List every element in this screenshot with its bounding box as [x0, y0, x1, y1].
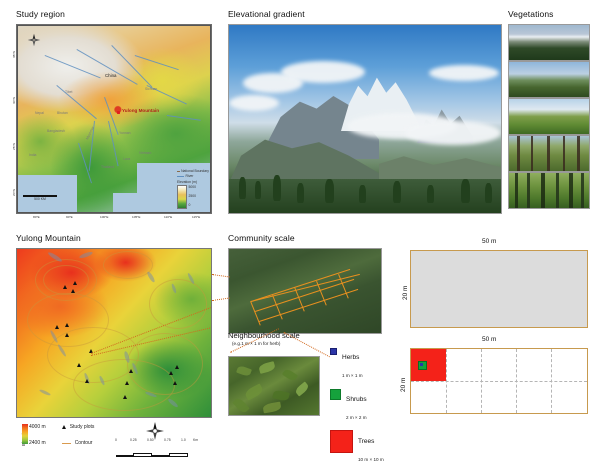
- scale-bar-label: 500 KM: [23, 197, 57, 201]
- legend-label-shrubs: Shrubs: [346, 396, 367, 403]
- stream-streak: [167, 398, 179, 409]
- herbs-swatch-icon: [330, 348, 337, 355]
- scale-tick: 0.25: [130, 438, 137, 442]
- study-plot-marker[interactable]: [85, 379, 89, 383]
- scale-tick: 1.0: [181, 438, 186, 442]
- foliage: [294, 381, 310, 396]
- lat-tick: 20°N: [12, 189, 16, 196]
- scale-unit: Km: [193, 438, 198, 442]
- neighbourhood-scale-subtitle: (e.g.1 m × 1 m for herb): [232, 341, 280, 346]
- legend-label-herbs: Herbs: [342, 354, 359, 361]
- panel-title-vegetations: Vegetations: [508, 9, 554, 19]
- legend-elev-low: 2400 m: [29, 440, 46, 446]
- place-label: Yunnan: [119, 131, 131, 135]
- map-scale-bar: 500 KM: [23, 195, 57, 201]
- legend-title-elevation: Elevation (m): [177, 180, 209, 184]
- study-plot-marker[interactable]: [71, 289, 75, 293]
- study-plot-marker[interactable]: [125, 381, 129, 385]
- map-legend: National Boundary River Elevation (m) 50…: [177, 169, 209, 209]
- study-plot-marker[interactable]: [73, 281, 77, 285]
- tree-trunk: [577, 136, 580, 171]
- plot-bottom-height-label: 20 m: [400, 378, 407, 392]
- compass-rose-icon: [27, 33, 41, 47]
- place-label: Vietnam: [139, 151, 151, 155]
- foliage: [236, 365, 252, 377]
- contour-line: [103, 251, 153, 279]
- stream-streak: [79, 251, 94, 260]
- contour-line: [149, 279, 207, 329]
- tree: [325, 179, 334, 203]
- tree: [255, 181, 261, 199]
- tree: [239, 177, 246, 199]
- tree-trunk: [556, 173, 559, 208]
- elevation-color-ramp: [177, 185, 187, 209]
- study-site-label: Yulong Mountain: [122, 108, 159, 113]
- plot-diagram-bottom[interactable]: [410, 348, 588, 414]
- tree: [297, 183, 304, 203]
- lon-tick: 105°E: [132, 215, 140, 219]
- tree-quadrat-cell[interactable]: [411, 349, 446, 381]
- legend-row-river: River: [177, 174, 209, 178]
- quadrat-size-legend: Herbs 1 m × 1 m Shrubs 2 m × 2 m Trees 1…: [330, 346, 400, 472]
- study-plot-marker[interactable]: [123, 395, 127, 399]
- legend-elev-high: 4000 m: [29, 424, 46, 430]
- yulong-scale-bar: [116, 444, 188, 462]
- neighbourhood-scale-photo[interactable]: [228, 356, 320, 416]
- study-plot-icon: [62, 425, 66, 429]
- legend-elev-high: 5000: [189, 185, 197, 189]
- plot-top-height-label: 20 m: [402, 286, 409, 300]
- grid-divider-h: [411, 381, 587, 382]
- place-label: India: [29, 153, 36, 157]
- legend-elev-low: 0: [189, 203, 197, 207]
- tree-trunk: [569, 173, 573, 208]
- cloud: [429, 65, 499, 81]
- place-label: Bangladesh: [47, 129, 65, 133]
- legend-label-trees: Trees: [358, 438, 374, 445]
- cloud: [405, 121, 501, 145]
- study-plot-marker[interactable]: [63, 285, 67, 289]
- shrub-quadrat-cell[interactable]: [418, 361, 427, 370]
- lon-tick: 100°E: [100, 215, 108, 219]
- boundary-line-icon: [177, 171, 180, 172]
- scale-tick: 0.75: [164, 438, 171, 442]
- study-plot-marker[interactable]: [55, 325, 59, 329]
- study-plot-marker[interactable]: [169, 371, 173, 375]
- stream-streak: [39, 389, 51, 397]
- tree-trunk: [517, 136, 520, 171]
- study-plot-marker[interactable]: [175, 365, 179, 369]
- yulong-mountain-dem-map[interactable]: [16, 248, 212, 418]
- connector-dashed-line: [284, 332, 330, 357]
- tree: [461, 179, 470, 203]
- country-label-china: China: [105, 73, 116, 78]
- trees-swatch-icon: [330, 430, 353, 453]
- legend-size-trees: 10 m × 10 m: [358, 457, 384, 462]
- legend-elev-mid: 2500: [189, 194, 197, 198]
- sea-gulf: [113, 193, 149, 214]
- tree: [393, 181, 401, 203]
- legend-row-shrubs: Shrubs 2 m × 2 m: [330, 388, 400, 424]
- plot-grid-line: [250, 301, 260, 325]
- lat-tick: 35°N: [12, 51, 16, 58]
- vegetation-photo-3[interactable]: [508, 98, 590, 135]
- tree: [359, 185, 366, 203]
- lon-tick: 90°E: [66, 215, 73, 219]
- panel-title-elevational-gradient: Elevational gradient: [228, 9, 305, 19]
- place-label: Laos: [123, 157, 130, 161]
- vegetations-photo-strip: [508, 24, 588, 212]
- tree: [273, 175, 281, 201]
- stream-streak: [146, 271, 156, 283]
- foliage: [262, 402, 281, 414]
- community-scale-photo[interactable]: [228, 248, 382, 334]
- panel-title-study-region: Study region: [16, 9, 65, 19]
- lon-tick: 115°E: [192, 215, 200, 219]
- scale-tick: 0.50: [147, 438, 154, 442]
- foliage: [272, 389, 290, 402]
- study-plot-marker[interactable]: [65, 333, 69, 337]
- tree-trunk: [547, 136, 550, 171]
- scale-tick: 0: [115, 438, 117, 442]
- place-label: Thailand: [101, 165, 114, 169]
- herb-quadrat-cell[interactable]: [420, 363, 423, 366]
- tree-trunk: [563, 136, 565, 171]
- tree-trunk: [541, 173, 545, 208]
- foliage: [282, 368, 298, 383]
- panel-title-community-scale: Community scale: [228, 233, 295, 243]
- vegetation-photo-4[interactable]: [508, 135, 590, 172]
- contour-line-icon: [62, 443, 71, 444]
- place-label: Bhutan: [57, 111, 68, 115]
- shrubs-swatch-icon: [330, 389, 341, 400]
- vegetation-photo-5[interactable]: [508, 172, 590, 209]
- place-label: Sichuan: [145, 87, 157, 91]
- legend-row-herbs: Herbs 1 m × 1 m: [330, 346, 400, 382]
- place-label: Tibet: [65, 90, 72, 94]
- vegetation-photo-2[interactable]: [508, 61, 590, 98]
- vegetation-photo-1[interactable]: [508, 24, 590, 61]
- lat-tick: 25°N: [12, 143, 16, 150]
- legend-label-contour: Contour: [75, 440, 93, 446]
- tree: [427, 185, 434, 203]
- legend-label-plots: Study plots: [70, 424, 95, 430]
- cloud: [281, 61, 365, 83]
- legend-label-boundary: National Boundary: [181, 169, 209, 173]
- legend-row-trees: Trees 10 m × 10 m: [330, 430, 400, 466]
- plot-bottom-width-label: 50 m: [482, 336, 496, 343]
- contour-line: [43, 265, 89, 295]
- tree-trunk: [527, 173, 530, 208]
- elevational-gradient-photo[interactable]: [228, 24, 502, 214]
- foliage: [258, 361, 276, 374]
- plot-top-width-label: 50 m: [482, 238, 496, 245]
- legend-label-river: River: [186, 174, 194, 178]
- cloud: [229, 95, 279, 111]
- study-plot-marker[interactable]: [173, 381, 177, 385]
- contour-line: [73, 359, 175, 411]
- foliage: [244, 383, 265, 400]
- lon-tick: 80°E: [33, 215, 40, 219]
- tree: [485, 183, 492, 203]
- tree-trunk: [531, 136, 533, 171]
- legend-row-boundary: National Boundary: [177, 169, 209, 173]
- yulong-legend: Elevation 4000 m 2400 m Study plots Cont…: [16, 424, 94, 446]
- place-label: Nepal: [35, 111, 44, 115]
- tree-trunk: [515, 173, 518, 208]
- lat-tick: 30°N: [12, 97, 16, 104]
- river-line-icon: [177, 176, 184, 177]
- panel-title-yulong-mountain: Yulong Mountain: [16, 233, 81, 243]
- plot-diagram-top[interactable]: [410, 250, 588, 328]
- study-region-map[interactable]: Yulong Mountain China Tibet Sichuan Nepa…: [16, 24, 212, 214]
- legend-size-herbs: 1 m × 1 m: [342, 373, 363, 378]
- elevation-ramp: [22, 424, 28, 444]
- lon-tick: 110°E: [164, 215, 172, 219]
- study-plot-marker[interactable]: [77, 363, 81, 367]
- legend-size-shrubs: 2 m × 2 m: [346, 415, 367, 420]
- study-plot-marker[interactable]: [65, 323, 69, 327]
- tree-trunk: [581, 173, 584, 208]
- study-plot-marker[interactable]: [129, 369, 133, 373]
